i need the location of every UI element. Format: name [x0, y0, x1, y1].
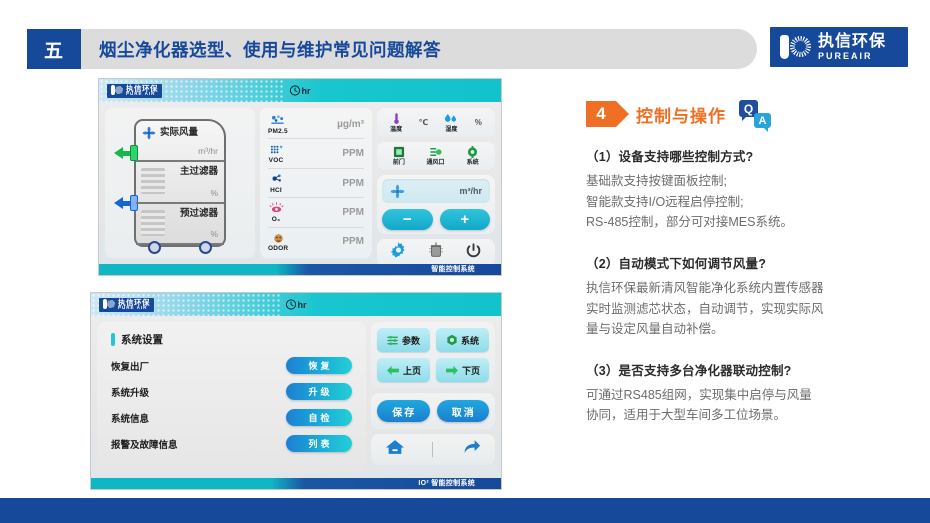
filter-clean-button[interactable]	[428, 242, 444, 264]
setting-label: 系统信息	[111, 411, 149, 425]
fan-icon	[142, 126, 156, 140]
device-body: 实际风量 m³/hr 主过滤器 % 预过滤器 %	[99, 102, 501, 264]
flow-increase-button[interactable]: +	[440, 209, 491, 230]
system-status[interactable]: 系统	[466, 146, 479, 167]
clock-icon	[290, 85, 301, 96]
setting-label: 系统升级	[111, 385, 149, 399]
power-button[interactable]	[465, 242, 482, 264]
flow-decrease-button[interactable]: −	[382, 209, 433, 230]
sliders-icon	[387, 335, 399, 346]
faq-content: 4 控制与操作 Q A （1）设备支持哪些控制方式? 基础款支持按键面板控制; …	[586, 100, 916, 446]
sensor-row: ODOR PPM	[268, 228, 364, 256]
qa-bubble-icon: Q A	[739, 100, 771, 128]
heading-accent-bar	[111, 333, 115, 346]
settings-heading-label: 系统设置	[121, 332, 163, 347]
save-button[interactable]: 保存	[377, 400, 430, 422]
faq-question: （2）自动模式下如何调节风量?	[586, 253, 916, 272]
airflow-label: 实际风量	[160, 128, 198, 138]
device-topbar: 执信环保 PURE AIR hr	[91, 293, 501, 316]
faq-item: （1）设备支持哪些控制方式? 基础款支持按键面板控制; 智能款支持I/O远程启停…	[586, 146, 916, 233]
page-header: 五 烟尘净化器选型、使用与维护常见问题解答	[27, 29, 757, 69]
settings-row: 报警及故障信息 列表	[111, 435, 352, 452]
machine-cell-airflow: 实际风量 m³/hr	[136, 121, 224, 162]
sensor-unit: PPM	[342, 148, 364, 159]
front-door-label: 前门	[393, 160, 405, 166]
airflow-unit: m³/hr	[198, 146, 218, 156]
environment-card: 温度 ℃ 湿度 %	[377, 108, 495, 137]
settings-row: 系统信息 自检	[111, 409, 352, 426]
faq-answer-line: 智能款支持I/O远程启停控制;	[586, 192, 916, 213]
params-button[interactable]: 参数	[377, 328, 430, 352]
faq-answer-line: 执信环保最新清风智能净化系统内置传感器	[586, 278, 916, 299]
home-back-card	[371, 434, 495, 465]
humidity-drop-icon	[444, 112, 458, 125]
settings-gear-button[interactable]	[390, 242, 407, 264]
self-check-button[interactable]: 自检	[286, 409, 352, 426]
faq-question: （1）设备支持哪些控制方式?	[586, 146, 916, 165]
device-bottom-bar-label: 智能控制系统	[431, 264, 475, 274]
machine-cell-main-filter: 主过滤器 %	[136, 162, 224, 203]
temperature-readout: 温度	[390, 112, 402, 133]
sensor-row: HCI PPM	[268, 169, 364, 198]
settings-row: 系统升级 升级	[111, 383, 352, 400]
brand-name-en: PUREAIR	[818, 52, 886, 61]
prev-page-label: 上页	[403, 364, 421, 377]
back-arrow-icon[interactable]	[461, 439, 481, 460]
settings-row: 恢复出厂 恢复	[111, 357, 352, 374]
params-label: 参数	[402, 334, 420, 347]
brand-logo: 执信环保 PUREAIR	[770, 27, 908, 67]
caster-wheel-right	[199, 241, 212, 254]
faq-answer-line: 协同，适用于大型车间多工位场景。	[586, 405, 916, 426]
cancel-button[interactable]: 取消	[437, 400, 490, 422]
clock-unit: hr	[302, 86, 311, 96]
runtime-clock: hr	[290, 85, 311, 96]
brand-name-cn: 执信环保	[818, 34, 886, 50]
faq-answer-line: 实时监测滤芯状态，自动调节，实现实际风	[586, 299, 916, 320]
hci-icon	[268, 172, 284, 186]
sensor-unit: PPM	[342, 207, 364, 218]
odor-icon	[270, 231, 286, 245]
vent-label: 通风口	[427, 160, 445, 166]
device-body: 系统设置 恢复出厂 恢复 系统升级 升级 系统信息 自检 报警及故障信息 列表	[91, 316, 501, 478]
section-title: 控制与操作	[636, 102, 726, 127]
section-header: 4 控制与操作 Q A	[586, 100, 916, 128]
answer-bubble: A	[754, 113, 771, 128]
humidity-label: 湿度	[445, 127, 457, 133]
sensor-code: ODOR	[268, 246, 288, 253]
home-icon[interactable]	[385, 439, 405, 460]
system-label: 系统	[467, 160, 479, 166]
flow-adjust-card: m³/hr − +	[377, 175, 495, 234]
pm25-icon	[270, 113, 286, 127]
setting-label: 报警及故障信息	[111, 437, 178, 451]
device-logo: 执信环保 PURE AIR	[99, 298, 154, 312]
sensor-unit: µg/m³	[337, 119, 364, 130]
arrow-right-icon	[445, 365, 459, 376]
brand-mark-icon	[778, 33, 812, 61]
device-bottom-bar-label: IO² 智能控制系统	[418, 478, 475, 488]
vent-status[interactable]: 通风口	[427, 146, 445, 167]
slide-root: 五 烟尘净化器选型、使用与维护常见问题解答 执信环保 PUREAIR 执信环保 …	[0, 0, 930, 523]
faq-answer: 执信环保最新清风智能净化系统内置传感器 实时监测滤芯状态，自动调节，实现实际风 …	[586, 278, 916, 340]
faq-answer: 基础款支持按键面板控制; 智能款支持I/O远程启停控制; RS-485控制，部分…	[586, 171, 916, 233]
temperature-unit: ℃	[418, 118, 428, 127]
sensor-code: VOC	[269, 158, 284, 165]
gear-hex-icon	[446, 334, 458, 346]
front-door-status[interactable]: 前门	[393, 146, 405, 167]
system-upgrade-button[interactable]: 升级	[286, 383, 352, 400]
next-page-button[interactable]: 下页	[436, 358, 489, 382]
humidity-unit: %	[475, 118, 482, 127]
clock-unit: hr	[298, 300, 307, 310]
vent-icon	[429, 146, 443, 159]
main-filter-unit: %	[210, 188, 218, 198]
machine-cell-pre-filter: 预过滤器 %	[136, 204, 224, 245]
sensor-code: PM2.5	[268, 129, 288, 136]
sensor-row: VOC PPM	[268, 139, 364, 168]
device-logo-en: PURE AIR	[126, 92, 158, 97]
temperature-label: 温度	[390, 127, 402, 133]
device-topbar: 执信环保 PURE AIR hr	[99, 79, 501, 102]
settings-heading: 系统设置	[111, 332, 352, 347]
settings-side-column: 参数 系统 上页	[371, 322, 495, 472]
arrow-left-icon	[386, 365, 400, 376]
sensor-code: HCI	[270, 188, 282, 195]
system-label: 系统	[461, 334, 479, 347]
fan-icon	[390, 184, 405, 199]
sensor-unit: PPM	[342, 178, 364, 189]
sensor-readout-list: PM2.5 µg/m³	[260, 108, 372, 258]
section-number-badge: 五	[27, 29, 81, 69]
sensor-row: PM2.5 µg/m³	[268, 110, 364, 139]
sensor-row: O₃ PPM	[268, 198, 364, 227]
system-settings-pane: 系统设置 恢复出厂 恢复 系统升级 升级 系统信息 自检 报警及故障信息 列表	[97, 322, 366, 472]
nav-buttons-card: 参数 系统 上页	[371, 322, 495, 388]
section-number: 4	[586, 101, 616, 127]
faq-answer: 可通过RS485组网，实现集中启停与风量 协同，适用于大型车间多工位场景。	[586, 385, 916, 426]
device-logo-en: PURE AIR	[118, 306, 150, 311]
page-title: 烟尘净化器选型、使用与维护常见问题解答	[99, 37, 441, 62]
faq-answer-line: 基础款支持按键面板控制;	[586, 171, 916, 192]
next-page-label: 下页	[462, 364, 480, 377]
control-column: 温度 ℃ 湿度 %	[377, 108, 495, 258]
flow-value-display: m³/hr	[382, 179, 490, 203]
system-gear-icon	[466, 146, 479, 159]
setting-label: 恢复出厂	[111, 359, 149, 373]
faq-answer-line: 量与设定风量自动补偿。	[586, 319, 916, 340]
flow-unit: m³/hr	[460, 186, 483, 196]
o3-icon	[268, 201, 284, 215]
clock-icon	[286, 299, 297, 310]
runtime-clock: hr	[286, 299, 307, 310]
faq-answer-line: RS-485控制，部分可对接MES系统。	[586, 212, 916, 233]
faq-item: （3）是否支持多台净化器联动控制? 可通过RS485组网，实现集中启停与风量 协…	[586, 360, 916, 426]
system-button[interactable]: 系统	[436, 328, 489, 352]
save-cancel-card: 保存 取消	[371, 393, 495, 429]
sensor-code: O₃	[272, 217, 280, 224]
door-icon	[393, 146, 405, 159]
voc-icon	[268, 143, 284, 157]
sensor-unit: PPM	[342, 236, 364, 247]
factory-reset-button[interactable]: 恢复	[286, 357, 352, 374]
thermometer-icon	[393, 112, 400, 125]
status-card: 前门 通风口	[377, 142, 495, 171]
faq-answer-line: 可通过RS485组网，实现集中启停与风量	[586, 385, 916, 406]
machine-illustration-pane: 实际风量 m³/hr 主过滤器 % 预过滤器 %	[105, 108, 255, 258]
caster-wheel-left	[148, 241, 161, 254]
purifier-machine-graphic: 实际风量 m³/hr 主过滤器 % 预过滤器 %	[134, 119, 226, 247]
pre-filter-grill-icon	[141, 210, 165, 236]
pre-filter-unit: %	[210, 229, 218, 239]
device-screen-settings: 执信环保 PURE AIR hr 系统设置 恢复出厂	[90, 292, 502, 490]
alarm-list-button[interactable]: 列表	[286, 435, 352, 452]
device-screen-monitor: 执信环保 PURE AIR hr	[98, 78, 502, 276]
device-bottom-bar: IO² 智能控制系统	[91, 478, 501, 489]
device-logo: 执信环保 PURE AIR	[107, 84, 162, 98]
humidity-readout: 湿度	[444, 112, 458, 133]
faq-question: （3）是否支持多台净化器联动控制?	[586, 360, 916, 379]
air-outlet-arrow	[114, 195, 138, 211]
air-inlet-arrow	[114, 145, 138, 161]
prev-page-button[interactable]: 上页	[377, 358, 430, 382]
nav-divider	[432, 442, 433, 457]
device-bottom-bar: 智能控制系统	[99, 264, 501, 275]
main-filter-grill-icon	[141, 168, 165, 194]
page-footer-bar	[0, 498, 930, 523]
faq-item: （2）自动模式下如何调节风量? 执信环保最新清风智能净化系统内置传感器 实时监测…	[586, 253, 916, 340]
